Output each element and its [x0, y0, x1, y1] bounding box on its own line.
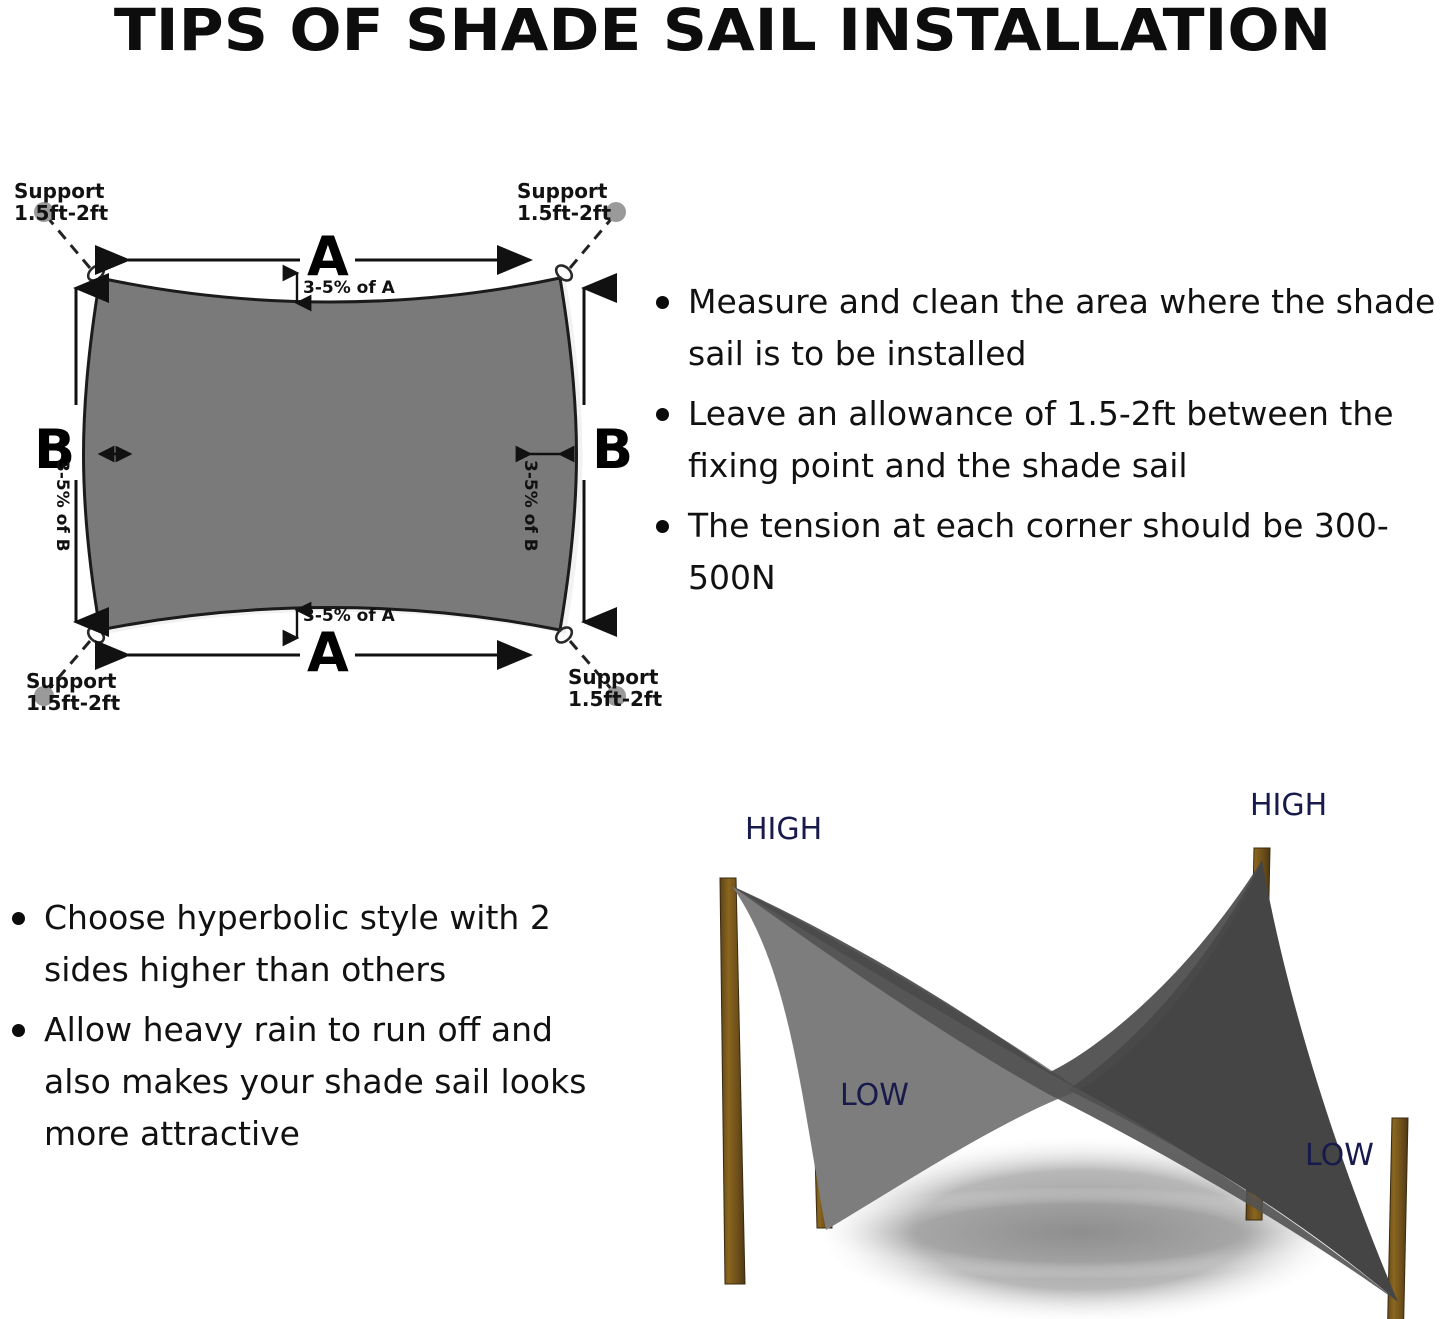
- dimension-letter-right-b: B: [592, 423, 633, 477]
- list-item: Choose hyperbolic style with 2 sides hig…: [4, 892, 629, 996]
- support-label-bottom-left: Support 1.5ft-2ft: [26, 670, 120, 714]
- tips-list-bottom: Choose hyperbolic style with 2 sides hig…: [4, 892, 629, 1168]
- support-label-line2: 1.5ft-2ft: [26, 691, 120, 715]
- curvature-label-top: 3-5% of A: [303, 278, 395, 298]
- rect-sail-diagram: Support 1.5ft-2ft Support 1.5ft-2ft Supp…: [0, 160, 650, 740]
- tips-list-right: Measure and clean the area where the sha…: [648, 276, 1445, 612]
- label-low-right: LOW: [1305, 1138, 1374, 1173]
- label-low-left: LOW: [840, 1078, 909, 1113]
- support-label-line2: 1.5ft-2ft: [517, 201, 611, 225]
- support-label-bottom-right: Support 1.5ft-2ft: [568, 666, 662, 710]
- dimension-letter-bottom-a: A: [307, 626, 349, 680]
- curvature-label-left: 3-5% of B: [52, 460, 72, 552]
- label-high-left: HIGH: [745, 812, 822, 847]
- list-item: Allow heavy rain to run off and also mak…: [4, 1004, 629, 1160]
- list-item: Measure and clean the area where the sha…: [648, 276, 1445, 380]
- page-title: TIPS OF SHADE SAIL INSTALLATION: [0, 0, 1445, 64]
- support-label-top-right: Support 1.5ft-2ft: [517, 180, 611, 224]
- hyperbolic-sail-svg: [650, 790, 1445, 1319]
- list-item: Leave an allowance of 1.5-2ft between th…: [648, 388, 1445, 492]
- list-item: The tension at each corner should be 300…: [648, 500, 1445, 604]
- support-label-line1: Support: [26, 669, 116, 693]
- support-label-line1: Support: [568, 665, 658, 689]
- support-label-line2: 1.5ft-2ft: [14, 201, 108, 225]
- hyperbolic-sail-diagram: HIGH HIGH LOW LOW: [650, 790, 1445, 1319]
- sail-body: [84, 278, 577, 630]
- curvature-label-bottom: 3-5% of A: [303, 606, 395, 626]
- label-high-right: HIGH: [1250, 788, 1327, 823]
- support-label-line2: 1.5ft-2ft: [568, 687, 662, 711]
- support-label-top-left: Support 1.5ft-2ft: [14, 180, 108, 224]
- support-label-line1: Support: [517, 179, 607, 203]
- dimension-letter-top-a: A: [307, 230, 349, 284]
- support-label-line1: Support: [14, 179, 104, 203]
- curvature-label-right: 3-5% of B: [520, 460, 540, 552]
- post-high-left: [720, 878, 745, 1284]
- infographic-page: TIPS OF SHADE SAIL INSTALLATION: [0, 0, 1445, 1319]
